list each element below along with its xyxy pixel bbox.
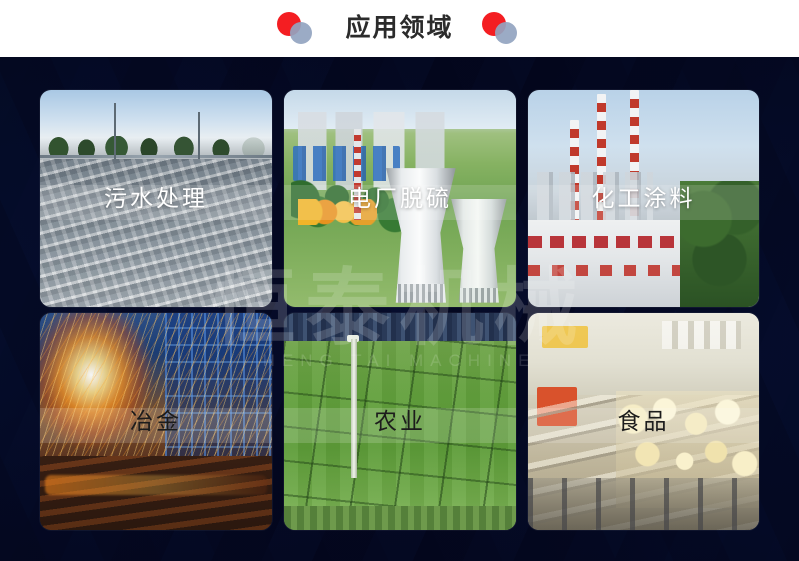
label-band [40, 408, 272, 443]
far-treeline [284, 313, 516, 341]
light-pole [198, 112, 200, 160]
card-agriculture[interactable]: 农业 [284, 313, 516, 530]
light-pole [114, 103, 116, 159]
application-cards-grid: 污水处理 电厂脱硫 [40, 90, 759, 530]
label-band [528, 408, 759, 443]
factory-wall [528, 313, 759, 395]
circles-red-blue-icon-right [480, 11, 524, 47]
label-band [40, 185, 272, 220]
circles-red-blue-icon-left [275, 11, 319, 47]
cards-panel: 污水处理 电厂脱硫 [0, 57, 799, 561]
card-metallurgy[interactable]: 冶金 [40, 313, 272, 530]
card-power-plant-desulfurization[interactable]: 电厂脱硫 [284, 90, 516, 307]
section-header: 应用领域 [0, 0, 799, 57]
label-band [528, 185, 759, 220]
page-title: 应用领域 [345, 16, 453, 41]
application-fields-page: 应用领域 污水处理 [0, 0, 799, 561]
machine-row [528, 478, 759, 530]
blue-circle-icon [290, 22, 312, 44]
label-band [284, 185, 516, 220]
foundry-floor [40, 456, 272, 530]
walkway-rail [40, 155, 272, 158]
blue-circle-icon [495, 22, 517, 44]
card-chemical-coatings[interactable]: 化工涂料 [528, 90, 759, 307]
card-food[interactable]: 食品 [528, 313, 759, 530]
field-walkway [284, 506, 516, 530]
label-band [284, 408, 516, 443]
card-sewage-treatment[interactable]: 污水处理 [40, 90, 272, 307]
